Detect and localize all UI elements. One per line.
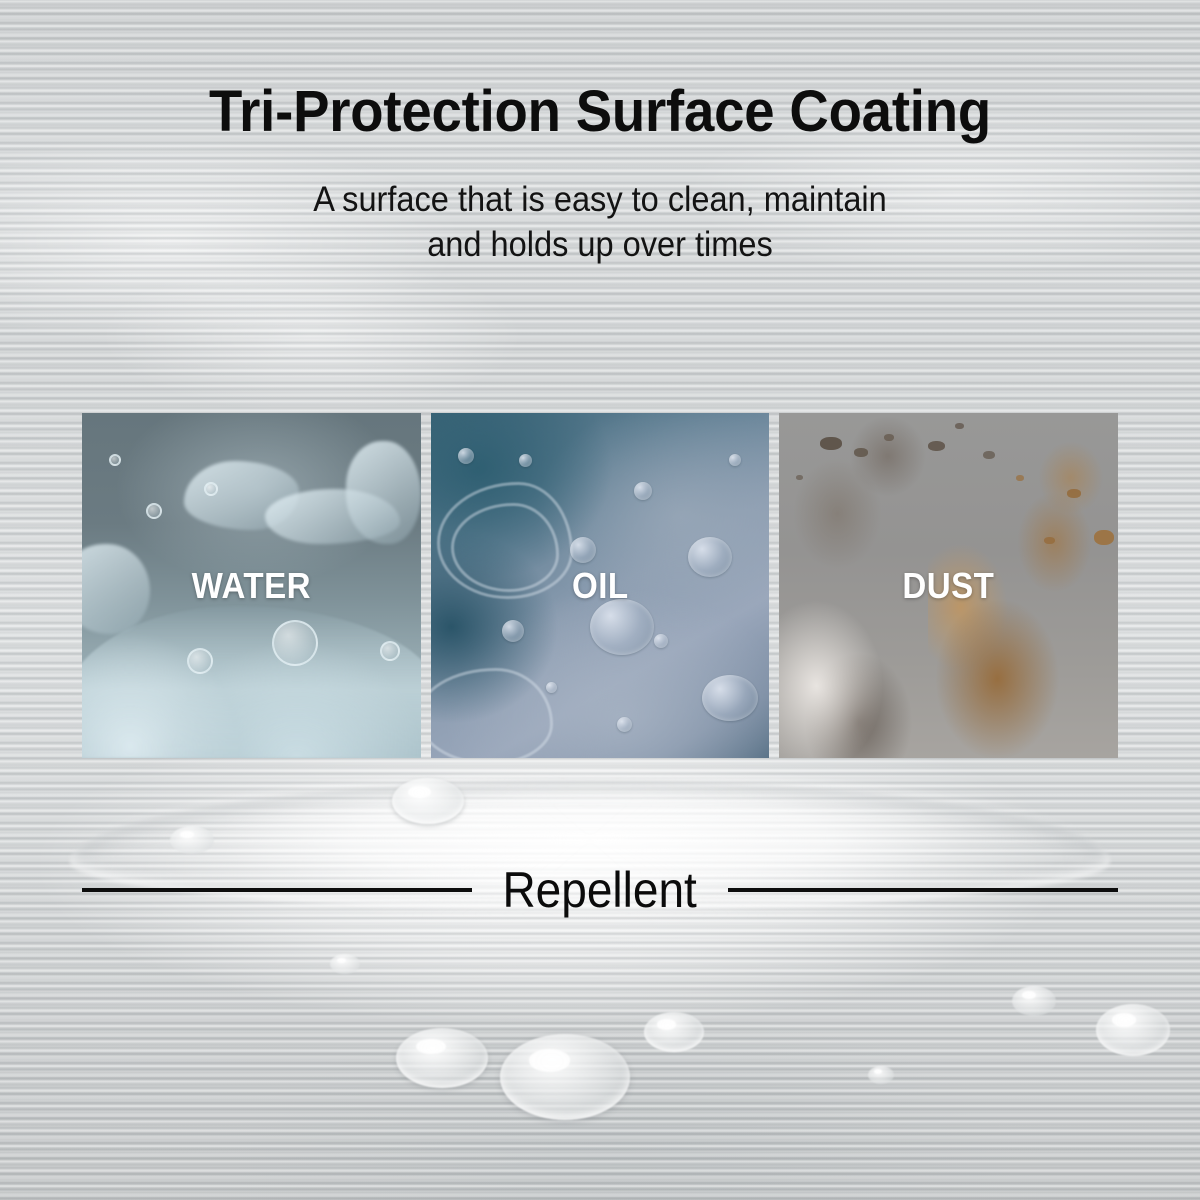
oil-bubble xyxy=(458,448,474,464)
water-bubble xyxy=(187,648,213,674)
page-title: Tri-Protection Surface Coating xyxy=(36,78,1164,145)
water-droplet xyxy=(500,1034,630,1120)
oil-bubble xyxy=(590,599,654,655)
dust-speck xyxy=(1067,489,1081,498)
water-droplet xyxy=(868,1066,894,1084)
water-droplet xyxy=(396,1028,488,1088)
water-droplet xyxy=(1012,986,1056,1016)
water-droplet xyxy=(644,1012,704,1052)
oil-bubble xyxy=(570,537,596,563)
oil-bubble xyxy=(654,634,668,648)
oil-bubble xyxy=(634,482,652,500)
panel-water[interactable]: WATER xyxy=(82,413,421,758)
water-droplet xyxy=(330,954,360,974)
dust-speck xyxy=(884,434,894,441)
water-droplet xyxy=(392,778,464,824)
panel-dust[interactable]: DUST xyxy=(779,413,1118,758)
water-bubble xyxy=(380,641,400,661)
water-wave-shape xyxy=(82,606,421,758)
water-bubble xyxy=(204,482,218,496)
water-bubble xyxy=(109,454,121,466)
dust-speck xyxy=(820,437,842,450)
page-subtitle: A surface that is easy to clean, maintai… xyxy=(42,178,1158,268)
dust-speck xyxy=(928,441,945,451)
dust-speck xyxy=(1094,530,1114,545)
repellent-caption-row: Repellent xyxy=(82,855,1118,925)
panel-oil[interactable]: OIL xyxy=(431,413,770,758)
panel-label-water: WATER xyxy=(96,565,408,607)
oil-bubble xyxy=(502,620,524,642)
dust-speck xyxy=(983,451,995,459)
oil-swirl xyxy=(431,668,553,758)
oil-bubble xyxy=(729,454,741,466)
panel-label-oil: OIL xyxy=(444,565,756,607)
oil-bubble xyxy=(546,682,557,693)
page-subtitle-line-2: and holds up over times xyxy=(42,223,1158,268)
water-bubble xyxy=(272,620,318,666)
water-bubble xyxy=(146,503,162,519)
repellent-caption: Repellent xyxy=(499,861,701,919)
divider-line-right xyxy=(728,888,1118,892)
water-droplet xyxy=(170,826,214,854)
feature-panel-group: WATER OIL xyxy=(82,413,1118,758)
dust-speck xyxy=(854,448,868,457)
page-subtitle-line-1: A surface that is easy to clean, maintai… xyxy=(42,178,1158,223)
oil-bubble xyxy=(617,717,632,732)
water-splash-shape xyxy=(346,441,421,545)
dust-speck xyxy=(1044,537,1055,544)
panel-label-dust: DUST xyxy=(793,565,1105,607)
oil-bubble xyxy=(519,454,532,467)
promo-banner: Tri-Protection Surface Coating A surface… xyxy=(0,0,1200,1200)
divider-line-left xyxy=(82,888,472,892)
oil-bubble xyxy=(702,675,758,721)
water-droplet xyxy=(1096,1004,1170,1056)
